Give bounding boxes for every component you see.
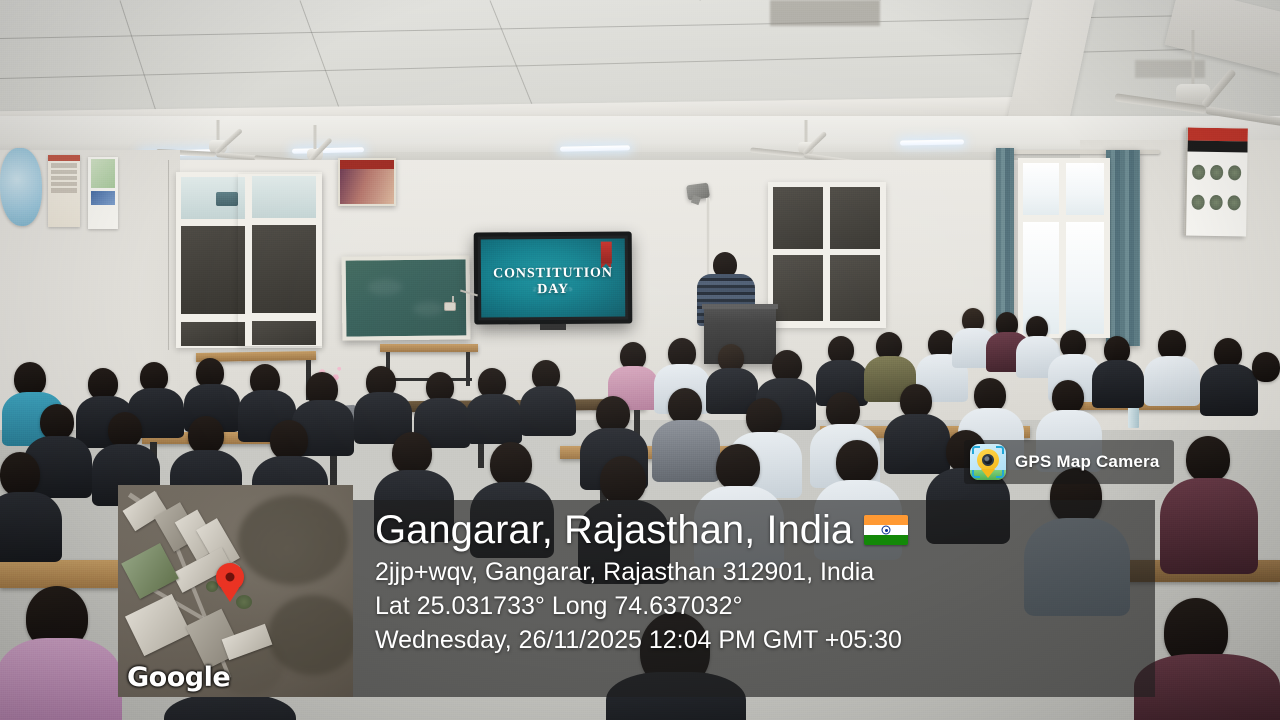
tv-wall-mount bbox=[540, 324, 566, 330]
gps-map-camera-icon bbox=[970, 444, 1006, 480]
wall-framed-poster bbox=[338, 158, 396, 206]
screen-ribbon-decoration bbox=[601, 242, 612, 264]
gps-location-text: Gangarar, Rajasthan, India 2jjp+wqv, Gan… bbox=[375, 505, 1155, 657]
gps-map-camera-label: GPS Map Camera bbox=[1015, 452, 1160, 472]
wall-poster-globe bbox=[0, 148, 42, 226]
window-left-2 bbox=[238, 174, 322, 346]
wall-socket bbox=[444, 302, 456, 311]
wall-poster-chart bbox=[48, 155, 80, 227]
screen-subtitle: 26-11-2025 bbox=[481, 287, 625, 294]
gps-place-name: Gangarar, Rajasthan, India bbox=[375, 505, 853, 555]
display-screen-content: CONSTITUTION DAY 26-11-2025 bbox=[481, 238, 626, 317]
screenshot-root: CONSTITUTION DAY 26-11-2025 bbox=[0, 0, 1280, 720]
screen-title: CONSTITUTION DAY bbox=[481, 266, 625, 299]
gps-address: 2jjp+wqv, Gangarar, Rajasthan 312901, In… bbox=[375, 555, 1155, 589]
ceiling-fan-4 bbox=[1098, 30, 1280, 110]
map-pin-icon bbox=[216, 563, 244, 591]
wall-poster-column bbox=[88, 157, 118, 229]
gps-datetime: Wednesday, 26/11/2025 12:04 PM GMT +05:3… bbox=[375, 623, 1155, 657]
curtain-right bbox=[1106, 150, 1140, 346]
bench-row-7 bbox=[0, 560, 120, 588]
display-screen: CONSTITUTION DAY 26-11-2025 bbox=[474, 231, 633, 324]
ceiling-fan-3 bbox=[746, 120, 866, 162]
podium-top bbox=[702, 304, 778, 309]
window-right-back bbox=[768, 182, 886, 328]
india-flag-icon bbox=[864, 515, 908, 545]
curtain-left bbox=[996, 148, 1014, 334]
gps-map-thumbnail: Google bbox=[118, 485, 353, 697]
gps-coordinates: Lat 25.031733° Long 74.637032° bbox=[375, 589, 1155, 623]
map-provider-watermark: Google bbox=[127, 662, 230, 693]
window-right bbox=[1018, 158, 1110, 338]
wall-poster-hindi bbox=[1184, 127, 1248, 236]
gps-map-camera-badge: GPS Map Camera bbox=[964, 440, 1174, 484]
front-table bbox=[380, 344, 478, 352]
gps-place-line: Gangarar, Rajasthan, India bbox=[375, 505, 1155, 555]
